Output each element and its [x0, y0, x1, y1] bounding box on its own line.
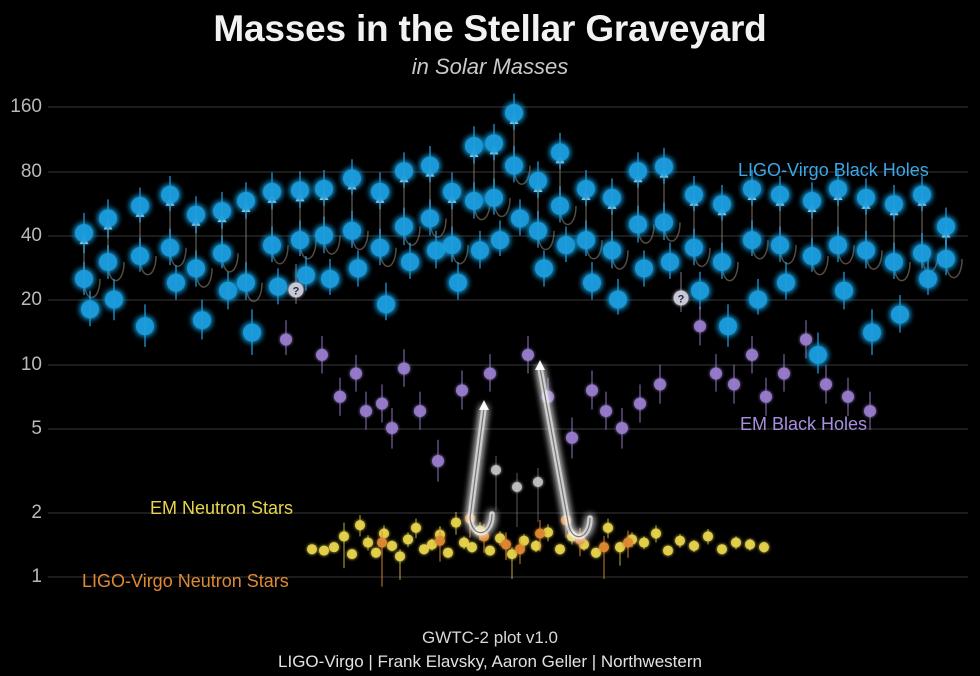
- em-neutron-star-marker: [663, 546, 673, 556]
- ligo-black-hole-marker: [427, 241, 445, 259]
- ligo-black-hole-marker: [713, 195, 731, 213]
- merger-arrowhead: [479, 400, 489, 410]
- ligo-black-hole-marker: [885, 253, 903, 271]
- ligo-black-hole-marker: [919, 270, 937, 288]
- ligo-black-hole-marker: [161, 239, 179, 257]
- ligo-black-hole-marker: [291, 181, 309, 199]
- em-black-hole-marker: [350, 368, 362, 380]
- em-neutron-star-marker: [329, 542, 339, 552]
- em-neutron-star-marker: [307, 544, 317, 554]
- ligo-black-hole-marker: [297, 266, 315, 284]
- merger-arc: [300, 199, 316, 258]
- series-ligo-virgo-black-holes: [75, 94, 955, 374]
- ligo-black-hole-marker: [377, 295, 395, 313]
- ligo-black-hole-marker: [885, 195, 903, 213]
- footer-version: GWTC-2 plot v1.0: [0, 628, 980, 648]
- ligo-black-hole-marker: [167, 274, 185, 292]
- ligo-black-hole-marker: [691, 282, 709, 300]
- em-neutron-star-marker: [443, 548, 453, 558]
- em-black-hole-marker: [800, 333, 812, 345]
- em-neutron-star-marker: [339, 531, 349, 541]
- ligo-neutron-star-marker: [599, 542, 609, 552]
- legend-label-1: EM Black Holes: [740, 414, 867, 435]
- ligo-black-hole-marker: [857, 241, 875, 259]
- ligo-black-hole-marker: [809, 346, 827, 364]
- ligo-black-hole-marker: [485, 134, 503, 152]
- ligo-black-hole-marker: [551, 143, 569, 161]
- ligo-black-hole-marker: [719, 317, 737, 335]
- em-neutron-star-marker: [689, 541, 699, 551]
- em-black-hole-marker: [376, 398, 388, 410]
- em-black-hole-marker: [654, 378, 666, 390]
- series-ligo-virgo-neutron-stars: [377, 505, 633, 587]
- ligo-black-hole-marker: [803, 247, 821, 265]
- ligo-black-hole-marker: [343, 222, 361, 240]
- em-neutron-star-marker: [745, 540, 755, 550]
- em-neutron-star-marker: [717, 544, 727, 554]
- em-black-hole-marker: [728, 378, 740, 390]
- em-neutron-star-marker: [703, 531, 713, 541]
- ligo-black-hole-marker: [829, 180, 847, 198]
- em-neutron-star-marker: [363, 538, 373, 548]
- em-black-hole-marker: [456, 384, 468, 396]
- em-neutron-star-marker: [485, 546, 495, 556]
- ligo-black-hole-marker: [557, 236, 575, 254]
- ligo-black-hole-marker: [577, 231, 595, 249]
- merger-arc: [352, 187, 368, 249]
- ligo-black-hole-marker: [913, 186, 931, 204]
- chart-canvas: Masses in the Stellar Graveyard in Solar…: [0, 0, 980, 676]
- bright-merger-arc: [470, 408, 492, 533]
- em-neutron-star-marker: [603, 523, 613, 533]
- ligo-black-hole-marker: [661, 253, 679, 271]
- em-black-hole-marker: [694, 320, 706, 332]
- gray-event-marker: [512, 482, 522, 492]
- merger-arc: [430, 175, 446, 238]
- ligo-black-hole-marker: [443, 183, 461, 201]
- legend-label-3: LIGO-Virgo Neutron Stars: [82, 571, 289, 592]
- ligo-black-hole-marker: [655, 158, 673, 176]
- ligo-black-hole-marker: [291, 231, 309, 249]
- em-neutron-star-marker: [355, 520, 365, 530]
- ligo-black-hole-marker: [937, 250, 955, 268]
- ligo-black-hole-marker: [485, 189, 503, 207]
- ligo-black-hole-marker: [635, 259, 653, 277]
- unknown-marker-label: ?: [678, 294, 685, 306]
- ligo-black-hole-marker: [75, 270, 93, 288]
- ligo-black-hole-marker: [263, 183, 281, 201]
- ligo-black-hole-marker: [609, 291, 627, 309]
- merger-arc: [140, 215, 156, 275]
- merger-arc: [780, 204, 796, 264]
- ligo-black-hole-marker: [321, 270, 339, 288]
- ligo-black-hole-marker: [629, 162, 647, 180]
- em-neutron-star-marker: [395, 551, 405, 561]
- special-markers: ??: [289, 264, 689, 527]
- y-tick-label-80: 80: [21, 161, 42, 183]
- series-em-neutron-stars: [307, 512, 769, 580]
- y-tick-label-20: 20: [21, 289, 42, 311]
- ligo-black-hole-marker: [343, 169, 361, 187]
- ligo-black-hole-marker: [219, 282, 237, 300]
- em-neutron-star-marker: [731, 538, 741, 548]
- em-neutron-star-marker: [347, 549, 357, 559]
- merger-arc: [324, 198, 340, 254]
- ligo-black-hole-marker: [685, 239, 703, 257]
- em-black-hole-marker: [432, 455, 444, 467]
- em-black-hole-marker: [710, 368, 722, 380]
- merger-arc: [638, 180, 654, 243]
- y-tick-label-40: 40: [21, 225, 42, 247]
- ligo-black-hole-marker: [835, 282, 853, 300]
- ligo-black-hole-marker: [269, 278, 287, 296]
- ligo-black-hole-marker: [136, 317, 154, 335]
- em-black-hole-marker: [778, 368, 790, 380]
- ligo-black-hole-marker: [535, 259, 553, 277]
- ligo-black-hole-marker: [551, 197, 569, 215]
- merger-arc: [474, 155, 490, 220]
- ligo-black-hole-marker: [243, 324, 261, 342]
- ligo-black-hole-marker: [105, 291, 123, 309]
- ligo-black-hole-marker: [505, 157, 523, 175]
- ligo-black-hole-marker: [771, 236, 789, 254]
- em-neutron-star-marker: [675, 536, 685, 546]
- em-neutron-star-marker: [403, 534, 413, 544]
- ligo-black-hole-marker: [401, 253, 419, 271]
- ligo-black-hole-marker: [529, 172, 547, 190]
- em-black-hole-marker: [386, 422, 398, 434]
- em-black-hole-marker: [360, 405, 372, 417]
- merger-arc: [752, 198, 768, 259]
- ligo-black-hole-marker: [465, 137, 483, 155]
- ligo-black-hole-marker: [161, 186, 179, 204]
- merger-arc: [380, 201, 396, 267]
- merger-arc: [272, 201, 288, 264]
- em-neutron-star-marker: [371, 548, 381, 558]
- ligo-black-hole-marker: [529, 222, 547, 240]
- y-tick-label-2: 2: [31, 502, 42, 524]
- em-neutron-star-marker: [651, 528, 661, 538]
- ligo-black-hole-marker: [937, 218, 955, 236]
- em-black-hole-marker: [746, 349, 758, 361]
- ligo-black-hole-marker: [771, 186, 789, 204]
- ligo-black-hole-marker: [829, 236, 847, 254]
- merger-arc: [196, 224, 212, 287]
- merger-arc: [404, 180, 420, 245]
- ligo-black-hole-marker: [395, 162, 413, 180]
- em-black-hole-marker: [616, 422, 628, 434]
- ligo-black-hole-marker: [891, 306, 909, 324]
- ligo-black-hole-marker: [131, 247, 149, 265]
- em-neutron-star-marker: [379, 528, 389, 538]
- merger-arc: [838, 198, 854, 264]
- em-black-hole-marker: [414, 405, 426, 417]
- ligo-neutron-star-marker: [623, 538, 633, 548]
- ligo-black-hole-marker: [629, 215, 647, 233]
- ligo-black-hole-marker: [371, 239, 389, 257]
- ligo-black-hole-marker: [449, 274, 467, 292]
- ligo-black-hole-marker: [603, 189, 621, 207]
- em-black-hole-marker: [634, 398, 646, 410]
- legend-label-2: EM Neutron Stars: [150, 498, 293, 519]
- ligo-black-hole-marker: [743, 231, 761, 249]
- ligo-black-hole-marker: [583, 274, 601, 292]
- merger-arc: [452, 201, 468, 264]
- merger-arc: [514, 122, 530, 184]
- em-black-hole-marker: [334, 391, 346, 403]
- em-black-hole-marker: [316, 349, 328, 361]
- ligo-black-hole-marker: [857, 189, 875, 207]
- ligo-black-hole-marker: [465, 192, 483, 210]
- ligo-black-hole-marker: [131, 197, 149, 215]
- em-neutron-star-marker: [639, 538, 649, 548]
- merger-arc: [612, 207, 628, 269]
- em-neutron-star-marker: [759, 542, 769, 552]
- ligo-neutron-star-marker: [501, 540, 511, 550]
- ligo-black-hole-marker: [685, 186, 703, 204]
- ligo-black-hole-marker: [315, 226, 333, 244]
- ligo-black-hole-marker: [213, 202, 231, 220]
- em-black-hole-marker: [586, 384, 598, 396]
- ligo-neutron-star-marker: [535, 528, 545, 538]
- gray-event-marker: [491, 465, 501, 475]
- em-black-hole-marker: [566, 432, 578, 444]
- ligo-neutron-star-marker: [377, 538, 387, 548]
- merger-arc: [538, 190, 554, 250]
- ligo-black-hole-marker: [655, 213, 673, 231]
- ligo-black-hole-marker: [803, 192, 821, 210]
- y-tick-label-160: 160: [10, 96, 42, 118]
- ligo-neutron-star-marker: [515, 544, 525, 554]
- ligo-black-hole-marker: [471, 241, 489, 259]
- y-tick-label-10: 10: [21, 354, 42, 376]
- merger-arc: [560, 161, 576, 224]
- y-tick-label-1: 1: [31, 566, 42, 588]
- em-neutron-star-marker: [555, 544, 565, 554]
- ligo-black-hole-marker: [863, 324, 881, 342]
- ligo-black-hole-marker: [237, 192, 255, 210]
- em-black-hole-marker: [484, 368, 496, 380]
- ligo-black-hole-marker: [491, 231, 509, 249]
- unknown-marker-label: ?: [293, 286, 300, 298]
- em-neutron-star-marker: [387, 541, 397, 551]
- ligo-black-hole-marker: [371, 183, 389, 201]
- ligo-black-hole-marker: [263, 236, 281, 254]
- ligo-black-hole-marker: [395, 218, 413, 236]
- ligo-black-hole-marker: [213, 244, 231, 262]
- merger-arc: [694, 204, 710, 267]
- em-neutron-star-marker: [411, 523, 421, 533]
- gray-event-marker: [533, 477, 543, 487]
- ligo-black-hole-marker: [421, 209, 439, 227]
- y-tick-label-5: 5: [31, 418, 42, 440]
- em-neutron-star-marker: [467, 542, 477, 552]
- ligo-black-hole-marker: [511, 209, 529, 227]
- ligo-black-hole-marker: [99, 253, 117, 271]
- ligo-black-hole-marker: [577, 180, 595, 198]
- ligo-black-hole-marker: [743, 180, 761, 198]
- em-black-hole-marker: [280, 333, 292, 345]
- ligo-black-hole-marker: [315, 180, 333, 198]
- em-black-hole-marker: [820, 378, 832, 390]
- legend-label-0: LIGO-Virgo Black Holes: [738, 160, 929, 181]
- em-black-hole-marker: [600, 405, 612, 417]
- ligo-black-hole-marker: [349, 259, 367, 277]
- ligo-black-hole-marker: [99, 209, 117, 227]
- em-black-hole-marker: [398, 363, 410, 375]
- ligo-black-hole-marker: [81, 300, 99, 318]
- merger-arc: [170, 204, 186, 267]
- ligo-black-hole-marker: [187, 259, 205, 277]
- ligo-black-hole-marker: [713, 253, 731, 271]
- em-neutron-star-marker: [319, 546, 329, 556]
- ligo-neutron-star-marker: [435, 536, 445, 546]
- ligo-black-hole-marker: [749, 291, 767, 309]
- series-em-black-holes: [280, 307, 876, 482]
- merger-arc: [586, 198, 602, 259]
- em-black-hole-marker: [522, 349, 534, 361]
- merger-arc: [84, 242, 100, 297]
- merger-arc: [664, 176, 680, 241]
- em-neutron-star-marker: [451, 518, 461, 528]
- ligo-black-hole-marker: [603, 241, 621, 259]
- ligo-black-hole-marker: [193, 311, 211, 329]
- ligo-black-hole-marker: [187, 206, 205, 224]
- em-black-hole-marker: [760, 391, 772, 403]
- ligo-black-hole-marker: [75, 224, 93, 242]
- merger-arc: [812, 210, 828, 275]
- ligo-black-hole-marker: [777, 274, 795, 292]
- em-black-hole-marker: [842, 391, 854, 403]
- ligo-black-hole-marker: [443, 236, 461, 254]
- ligo-black-hole-marker: [421, 157, 439, 175]
- ligo-black-hole-marker: [237, 274, 255, 292]
- ligo-black-hole-marker: [505, 104, 523, 122]
- merger-arc: [866, 207, 882, 269]
- footer-credits: LIGO-Virgo | Frank Elavsky, Aaron Geller…: [0, 652, 980, 672]
